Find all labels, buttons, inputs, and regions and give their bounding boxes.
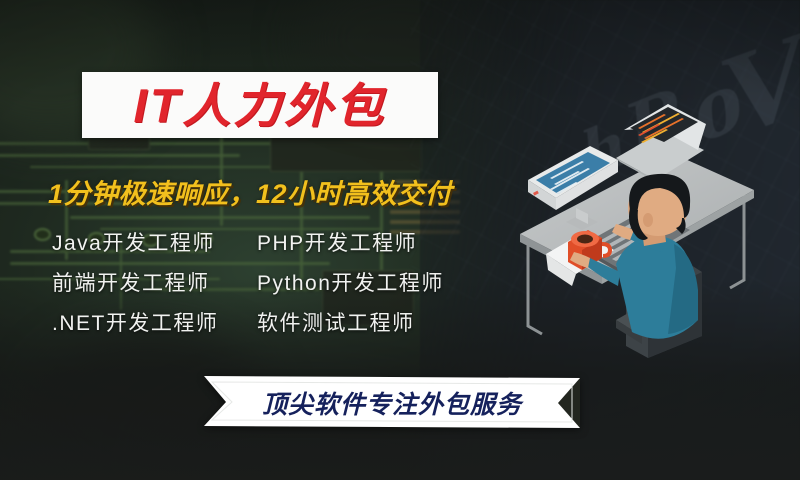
slogan-ribbon: 顶尖软件专注外包服务 [204, 376, 580, 430]
role-item: 前端开发工程师 [52, 267, 257, 297]
role-item: 软件测试工程师 [257, 307, 472, 337]
title-banner: IT人力外包 [82, 72, 438, 138]
role-row: 前端开发工程师 Python开发工程师 [52, 262, 472, 302]
role-row: Java开发工程师 PHP开发工程师 [52, 222, 472, 262]
role-item: PHP开发工程师 [257, 227, 472, 257]
subtitle-tagline: 1分钟极速响应，12小时高效交付 [48, 172, 452, 211]
service-roles-list: Java开发工程师 PHP开发工程师 前端开发工程师 Python开发工程师 .… [52, 222, 472, 342]
ribbon-slogan-text: 顶尖软件专注外包服务 [204, 376, 580, 430]
page-title: IT人力外包 [134, 82, 387, 129]
promotional-banner: V o P h [0, 0, 800, 480]
role-item: .NET开发工程师 [52, 307, 257, 337]
role-item: Python开发工程师 [257, 267, 472, 297]
role-item: Java开发工程师 [52, 227, 257, 257]
role-row: .NET开发工程师 软件测试工程师 [52, 302, 472, 342]
developer-at-desk-illustration [498, 58, 800, 358]
